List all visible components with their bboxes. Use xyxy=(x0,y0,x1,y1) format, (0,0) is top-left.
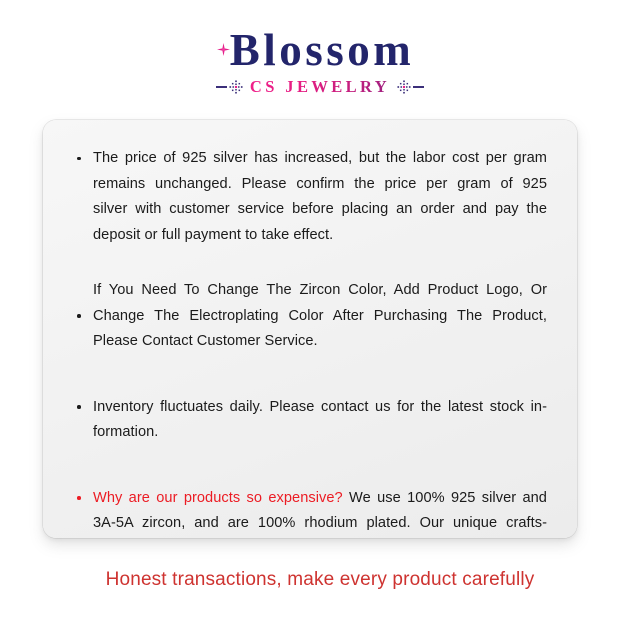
notice-line: Inventory fluctuates daily. Please conta… xyxy=(93,395,547,421)
brand-name-text: Blossom xyxy=(230,25,415,75)
notice-line: Please Contact Customer Service. xyxy=(93,329,547,355)
list-item: Why are our products so expensive? We us… xyxy=(75,486,547,539)
notice-line: remains unchanged. Please confirm the pr… xyxy=(93,172,547,198)
notice-card: The price of 925 silver has increased, b… xyxy=(43,120,577,538)
brand-wordmark: Blossom xyxy=(226,26,415,74)
ornament-dash-right xyxy=(413,86,424,88)
notice-line: If You Need To Change The Zircon Color, … xyxy=(93,278,547,304)
sparkle-diamond-icon xyxy=(217,43,230,56)
list-item: Inventory fluctuates daily. Please conta… xyxy=(75,395,547,446)
list-item: The price of 925 silver has increased, b… xyxy=(75,146,547,248)
notice-line: silver with customer service before plac… xyxy=(93,197,547,223)
flake-right-glyph xyxy=(397,80,411,94)
notice-line: deposit or full payment to take effect. xyxy=(93,223,547,249)
notice-bullet-list: The price of 925 silver has increased, b… xyxy=(75,146,547,538)
notice-line: 3A-5A zircon, and are 100% rhodium plate… xyxy=(93,511,547,537)
bullet-dot-icon xyxy=(77,405,81,409)
footer-tagline: Honest transactions, make every product … xyxy=(0,568,640,592)
notice-highlight-text: Why are our products so expensive? xyxy=(93,490,343,506)
notice-line: Change The Electroplating Color After Pu… xyxy=(93,304,547,330)
notice-card-wrapper: The price of 925 silver has increased, b… xyxy=(43,120,577,538)
list-item: If You Need To Change The Zircon Color, … xyxy=(75,278,547,355)
notice-line: formation. xyxy=(93,420,547,446)
notice-line: The price of 925 silver has increased, b… xyxy=(93,146,547,172)
brand-subtitle-row: CS JEWELRY xyxy=(0,77,640,97)
ornament-flake-left-icon xyxy=(216,80,243,94)
bullet-dot-icon xyxy=(77,496,81,500)
flake-left-glyph xyxy=(229,80,243,94)
notice-line: Why are our products so expensive? We us… xyxy=(93,486,547,512)
bullet-dot-icon xyxy=(77,314,81,318)
ornament-dash-left xyxy=(216,86,227,88)
notice-line: manship and quality guarantee every cust… xyxy=(93,537,547,539)
brand-subtitle-text: CS JEWELRY xyxy=(248,78,392,96)
bullet-dot-icon xyxy=(77,157,81,161)
notice-line-rest: We use 100% 925 silver and xyxy=(343,490,547,506)
ornament-flake-right-icon xyxy=(397,80,424,94)
brand-header: Blossom xyxy=(0,0,640,97)
